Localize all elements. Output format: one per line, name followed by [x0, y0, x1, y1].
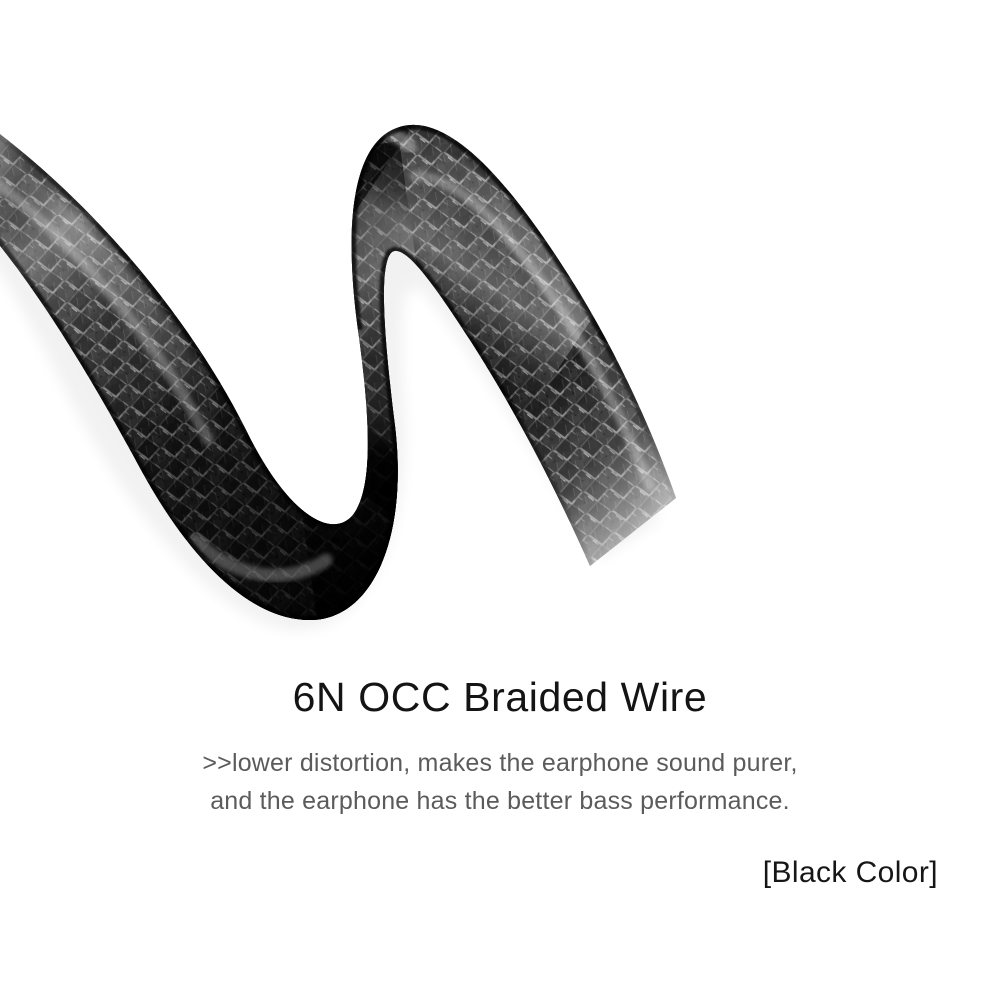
subcopy-line-1: >>lower distortion, makes the earphone s… — [0, 744, 1000, 782]
headline: 6N OCC Braided Wire — [0, 674, 1000, 721]
subcopy: >>lower distortion, makes the earphone s… — [0, 744, 1000, 820]
product-feature-image: 6N OCC Braided Wire >>lower distortion, … — [0, 0, 1000, 1000]
braided-cable-illustration — [0, 0, 1000, 640]
subcopy-line-2: and the earphone has the better bass per… — [0, 782, 1000, 820]
color-tag: [Black Color] — [763, 856, 938, 890]
caption-block: 6N OCC Braided Wire >>lower distortion, … — [0, 640, 1000, 1000]
hero-product-photo — [0, 0, 1000, 640]
